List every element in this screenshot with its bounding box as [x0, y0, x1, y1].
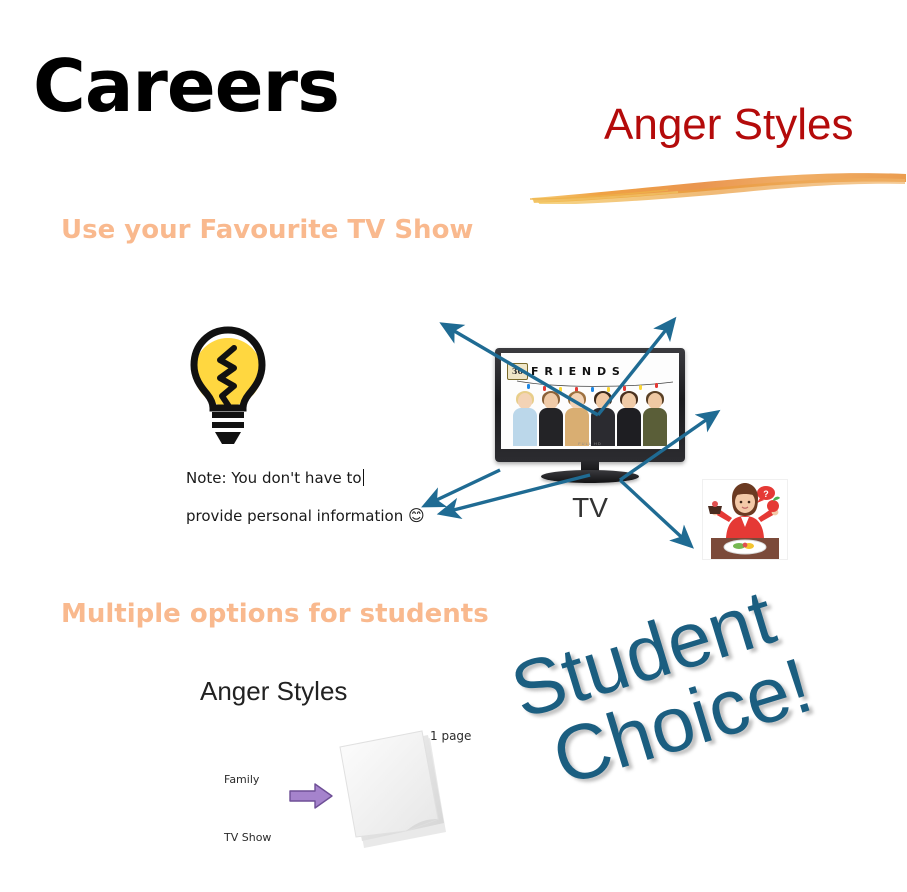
student-choice-callout: Student Choice!	[486, 551, 907, 892]
text-cursor	[363, 469, 364, 486]
brush-stroke-underline	[528, 168, 907, 204]
lightbulb-icon	[182, 324, 274, 452]
option-label-family: Family	[224, 773, 259, 786]
note-line-1: Note: You don't have to	[186, 469, 362, 487]
student-choice-line-2: Choice!	[508, 624, 894, 808]
radiating-arrows	[420, 305, 740, 555]
svg-text:?: ?	[763, 489, 769, 499]
woman-choosing-food-icon: ?	[703, 480, 787, 559]
slide-canvas: Careers Anger Styles Use your Favourite …	[0, 0, 907, 892]
note-text: Note: You don't have to provide personal…	[186, 460, 425, 535]
bottom-anger-styles-heading: Anger Styles	[200, 676, 347, 707]
subheading-tv-show: Use your Favourite TV Show	[61, 217, 473, 243]
anger-styles-heading: Anger Styles	[604, 103, 853, 147]
option-label-tv-show: TV Show	[224, 831, 271, 844]
student-choice-line-1: Student	[486, 551, 872, 735]
food-choice-illustration: ?	[702, 479, 788, 560]
paper-document-image	[330, 723, 460, 853]
subheading-multiple-options: Multiple options for students	[61, 601, 489, 627]
note-line-2: provide personal information	[186, 507, 403, 525]
purple-arrow-icon	[288, 781, 334, 811]
page-title: Careers	[33, 50, 339, 122]
